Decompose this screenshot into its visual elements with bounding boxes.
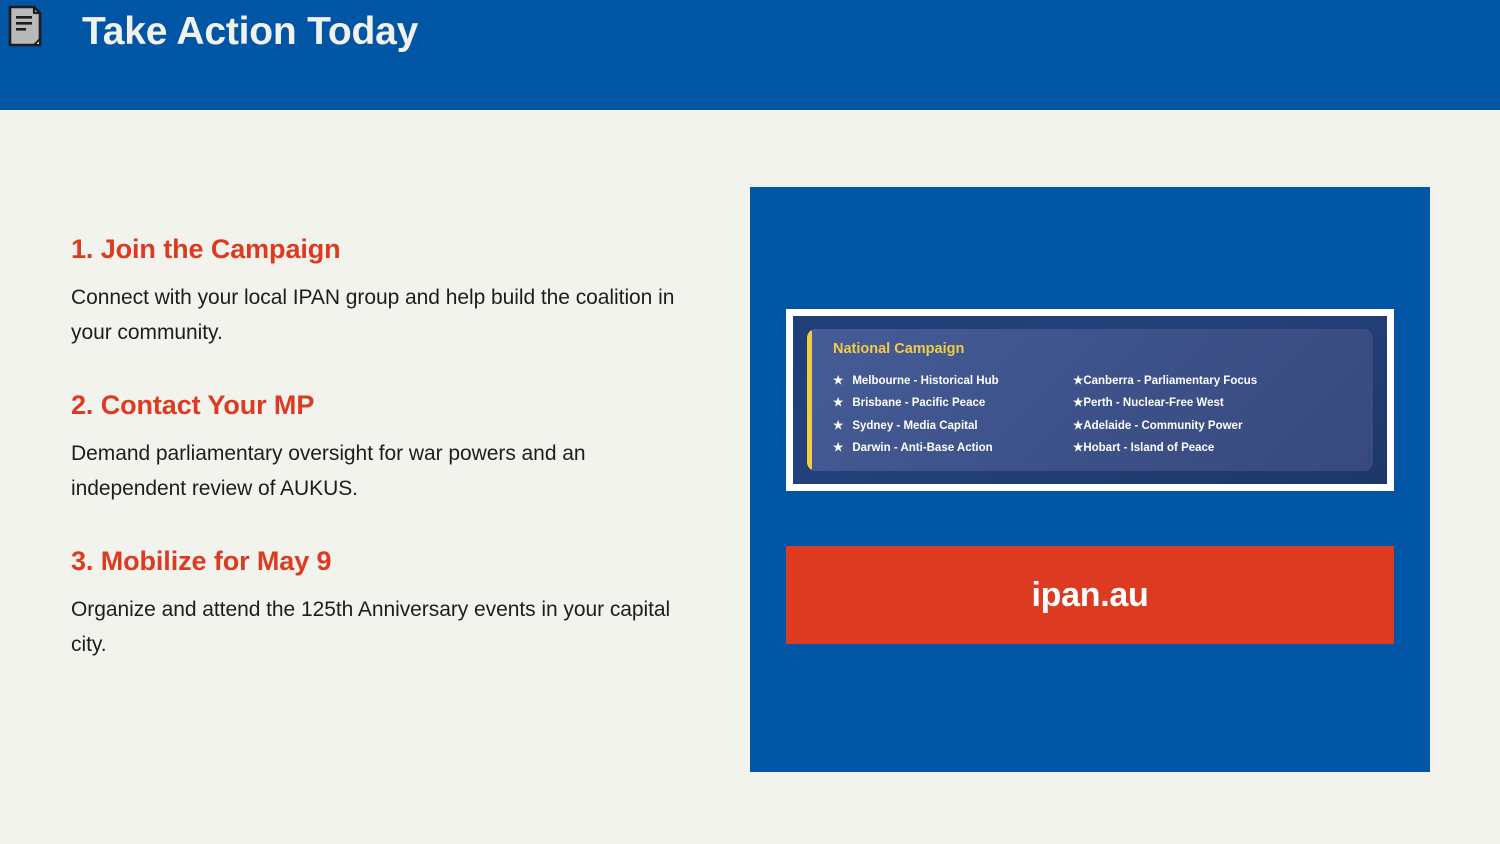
campaign-city-columns: ★ Melbourne - Historical Hub ★ Brisbane … [833,370,1373,459]
action-heading-2: 2. Contact Your MP [71,388,691,422]
star-icon: ★ [833,392,843,414]
star-icon: ★ [1073,415,1083,437]
star-icon: ★ [833,437,843,459]
star-icon: ★ [1073,392,1083,414]
action-list: 1. Join the Campaign Connect with your l… [71,232,691,662]
list-item: ★ Perth - Nuclear-Free West [1073,392,1343,414]
list-item-label: Canberra - Parliamentary Focus [1083,370,1257,392]
action-body-3: Organize and attend the 125th Anniversar… [71,592,681,662]
header-band: Take Action Today [0,0,1500,110]
list-item: ★ Darwin - Anti-Base Action [833,437,1073,459]
star-icon: ★ [1073,370,1083,392]
ipan-au-cta-button[interactable]: ipan.au [786,546,1394,644]
campaign-card-heading: National Campaign [833,340,1373,358]
list-item-label: Darwin - Anti-Base Action [852,437,992,459]
list-item: ★ Canberra - Parliamentary Focus [1073,370,1343,392]
star-icon: ★ [833,370,843,392]
list-item: ★ Brisbane - Pacific Peace [833,392,1073,414]
star-icon: ★ [833,415,843,437]
campaign-column-left: ★ Melbourne - Historical Hub ★ Brisbane … [833,370,1073,459]
action-block-2: 2. Contact Your MP Demand parliamentary … [71,388,691,506]
action-block-3: 3. Mobilize for May 9 Organize and atten… [71,544,691,662]
list-item-label: Hobart - Island of Peace [1083,437,1214,459]
list-item: ★ Hobart - Island of Peace [1073,437,1343,459]
cta-label: ipan.au [1032,575,1149,615]
list-item: ★ Sydney - Media Capital [833,415,1073,437]
action-body-1: Connect with your local IPAN group and h… [71,280,681,350]
list-item-label: Brisbane - Pacific Peace [852,392,985,414]
campaign-card-frame: National Campaign ★ Melbourne - Historic… [786,309,1394,491]
list-item-label: Perth - Nuclear-Free West [1083,392,1223,414]
gold-accent-bar [807,329,812,471]
list-item-label: Adelaide - Community Power [1083,415,1242,437]
right-blue-panel: National Campaign ★ Melbourne - Historic… [750,187,1430,772]
list-item: ★ Melbourne - Historical Hub [833,370,1073,392]
action-heading-1: 1. Join the Campaign [71,232,691,266]
list-item-label: Sydney - Media Capital [852,415,977,437]
document-page-icon [7,5,43,47]
page-title: Take Action Today [82,8,418,56]
campaign-card-inner: National Campaign ★ Melbourne - Historic… [807,329,1373,471]
action-heading-3: 3. Mobilize for May 9 [71,544,691,578]
campaign-column-right: ★ Canberra - Parliamentary Focus ★ Perth… [1073,370,1343,459]
star-icon: ★ [1073,437,1083,459]
action-body-2: Demand parliamentary oversight for war p… [71,436,681,506]
action-block-1: 1. Join the Campaign Connect with your l… [71,232,691,350]
list-item-label: Melbourne - Historical Hub [852,370,998,392]
campaign-card-outer: National Campaign ★ Melbourne - Historic… [793,316,1387,484]
list-item: ★ Adelaide - Community Power [1073,415,1343,437]
